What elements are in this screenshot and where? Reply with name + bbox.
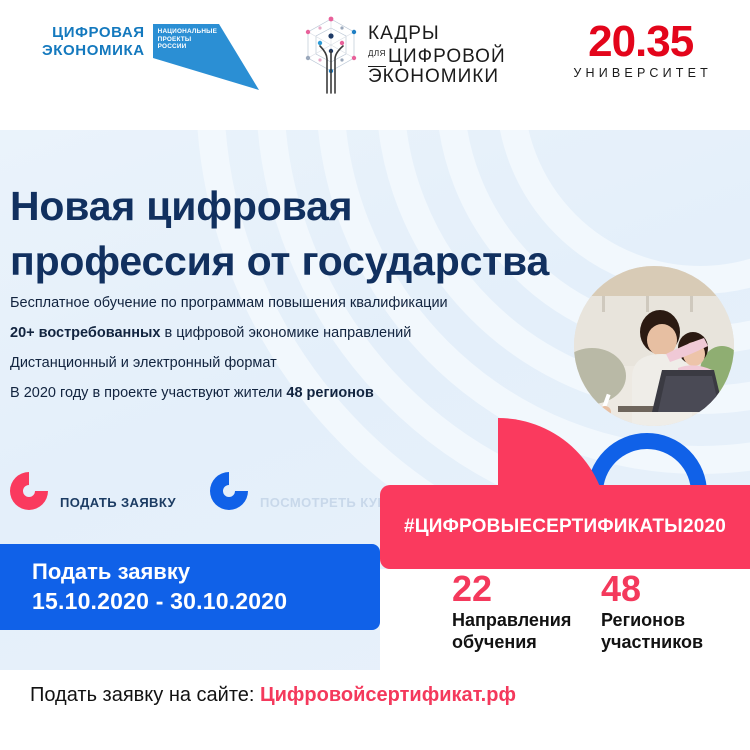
apply-button[interactable]: Подать заявку 15.10.2020 - 30.10.2020 [0,544,380,630]
np-line3: РОССИИ [158,43,217,51]
mini-cta-apply-label: ПОДАТЬ ЗАЯВКУ [60,495,176,510]
bullet-line: 20+ востребованных в цифровой экономике … [10,325,510,341]
bullet-text: в цифровой экономике направлений [160,325,411,341]
website-link[interactable]: Цифровойсертификат.рф [260,684,516,706]
bullet-line: В 2020 году в проекте участвуют жители 4… [10,385,510,401]
bullet-line: Бесплатное обучение по программам повыше… [10,295,510,311]
c-ring-icon-red [6,468,52,514]
kadry-line2: ЦИФРОВОЙ [388,47,506,67]
c-ring-icon-blue [206,468,252,514]
promo-poster: ЦИФРОВАЯ ЭКОНОМИКА НАЦИОНАЛЬНЫЕ ПРОЕКТЫ … [0,0,750,750]
mini-cta-courses-label: ПОСМОТРЕТЬ КУРС [260,495,396,510]
stat-label-line2: обучения [452,631,601,653]
kadry-line2-wrap: ДЛЯ ЦИФРОВОЙ [368,44,506,67]
kadry-line1: КАДРЫ [368,24,506,44]
national-projects-flag: НАЦИОНАЛЬНЫЕ ПРОЕКТЫ РОССИИ [153,24,293,90]
bullet-text: Бесплатное обучение по программам повыше… [10,295,448,311]
np-line2: ПРОЕКТЫ [158,36,217,44]
page-title: Новая цифровая профессия от государства [10,179,570,289]
hashtag-banner: #ЦИФРОВЫЕСЕРТИФИКАТЫ2020 [380,485,750,569]
apply-button-dates: 15.10.2020 - 30.10.2020 [32,588,287,615]
footer-prefix: Подать заявку на сайте: [30,684,260,706]
bullet-line: Дистанционный и электронный формат [10,355,510,371]
photo-illustration [574,266,734,426]
bullet-bold: 48 регионов [286,385,373,401]
logo-de-line2: ЭКОНОМИКА [42,42,145,60]
bullet-bold: 20+ востребованных [10,325,160,341]
university-subtitle: УНИВЕРСИТЕТ [569,66,712,80]
bullet-text: В 2020 году в проекте участвуют жители [10,385,286,401]
tree-network-icon [300,15,362,95]
stat-number: 22 [452,569,601,609]
kadry-line3: ЭКОНОМИКИ [368,67,506,87]
logo-kadry-text: КАДРЫ ДЛЯ ЦИФРОВОЙ ЭКОНОМИКИ [368,24,506,87]
logo-digital-economy-words: ЦИФРОВАЯ ЭКОНОМИКА [42,24,145,60]
logo-digital-economy: ЦИФРОВАЯ ЭКОНОМИКА НАЦИОНАЛЬНЫЕ ПРОЕКТЫ … [42,24,293,90]
np-line1: НАЦИОНАЛЬНЫЕ [158,28,217,36]
stat-label-line2: участников [601,631,750,653]
family-laptop-photo [574,266,734,426]
bullet-text: Дистанционный и электронный формат [10,355,277,371]
logo-bar: ЦИФРОВАЯ ЭКОНОМИКА НАЦИОНАЛЬНЫЕ ПРОЕКТЫ … [0,0,750,130]
hero-bullet-list: Бесплатное обучение по программам повыше… [10,295,510,415]
logo-kadry: КАДРЫ ДЛЯ ЦИФРОВОЙ ЭКОНОМИКИ [300,15,506,95]
hashtag-text: #ЦИФРОВЫЕСЕРТИФИКАТЫ2020 [404,516,726,538]
stat-block: 48 Регионов участников [601,569,750,684]
mini-cta-courses[interactable]: ПОСМОТРЕТЬ КУРС [206,468,396,514]
apply-button-title: Подать заявку [32,559,190,585]
logo-university-2035: 20.35 УНИВЕРСИТЕТ [569,20,712,80]
stat-number: 48 [601,569,750,609]
footer-cta: Подать заявку на сайте: Цифровойсертифик… [30,684,516,707]
footer-bar: Подать заявку на сайте: Цифровойсертифик… [0,670,750,750]
mini-cta-apply[interactable]: ПОДАТЬ ЗАЯВКУ [6,468,176,514]
stat-label-line1: Регионов [601,609,750,631]
logo-de-line1: ЦИФРОВАЯ [42,24,145,42]
university-number: 20.35 [569,20,712,64]
stats-panel: 22 Направления обучения 48 Регионов учас… [380,569,750,684]
stat-label-line1: Направления [452,609,601,631]
national-projects-text: НАЦИОНАЛЬНЫЕ ПРОЕКТЫ РОССИИ [158,28,217,51]
kadry-small: ДЛЯ [368,44,386,67]
stat-block: 22 Направления обучения [452,569,601,684]
